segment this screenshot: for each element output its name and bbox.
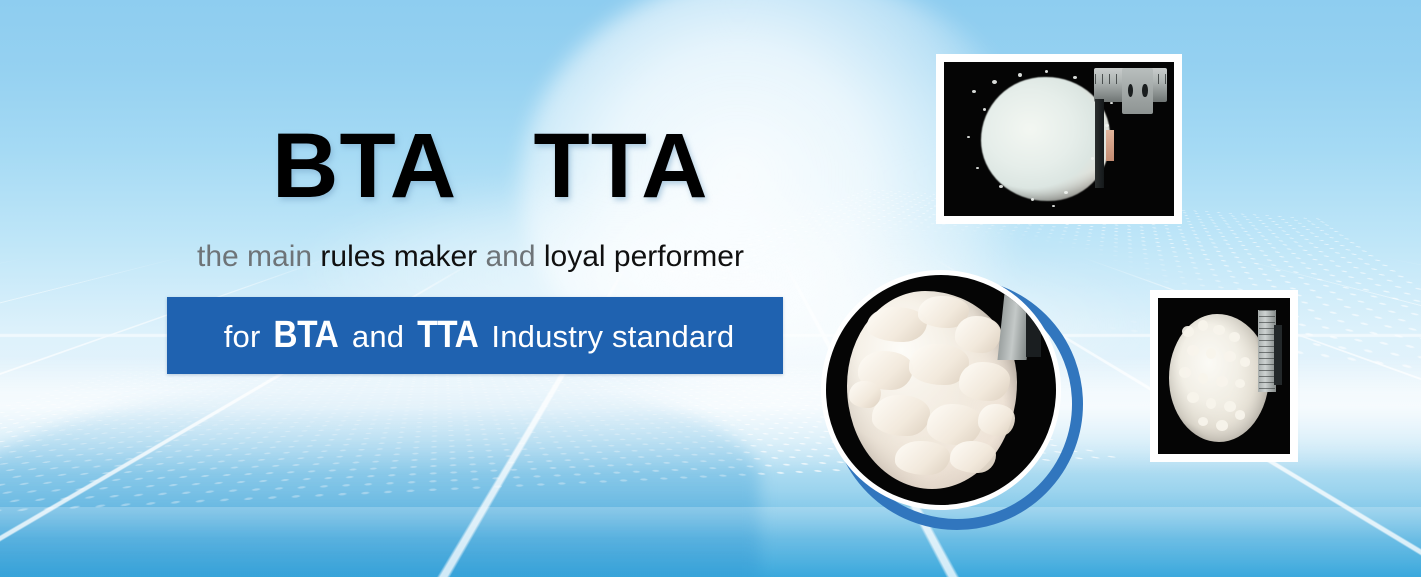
industry-standard-banner-text: for BTA and TTA Industry standard [167,314,783,357]
page-title: BTA TTA [272,120,709,212]
tta-flake-photo [821,270,1061,510]
banner-text-block: BTA TTA the main rules maker and loyal p… [0,0,800,577]
bta-granule-photo-card [1150,290,1298,462]
caliper-graphic [1253,310,1287,391]
caliper-graphic [1089,62,1167,216]
bar-segment-and: and [343,319,413,354]
promo-banner: BTA TTA the main rules maker and loyal p… [0,0,1421,577]
bta-granule-photo [1158,298,1290,454]
bar-segment-industry-standard: Industry standard [483,319,735,354]
subtitle-segment-loyal-performer: loyal performer [544,240,744,273]
bar-segment-for: for [224,319,270,354]
bta-powder-photo [944,62,1174,216]
tta-flake-photo-card [821,270,1083,532]
bar-segment-tta: TTA [417,314,478,357]
caliper-graphic [996,293,1047,371]
bar-segment-bta: BTA [274,314,339,357]
subtitle-segment-rules-maker: rules maker [320,240,477,273]
subtitle-segment-the-main: the main [197,240,320,273]
banner-subtitle: the main rules maker and loyal performer [197,239,744,275]
industry-standard-banner-bar: for BTA and TTA Industry standard [167,297,783,374]
subtitle-segment-and: and [477,240,544,273]
bta-powder-photo-card [936,54,1182,224]
